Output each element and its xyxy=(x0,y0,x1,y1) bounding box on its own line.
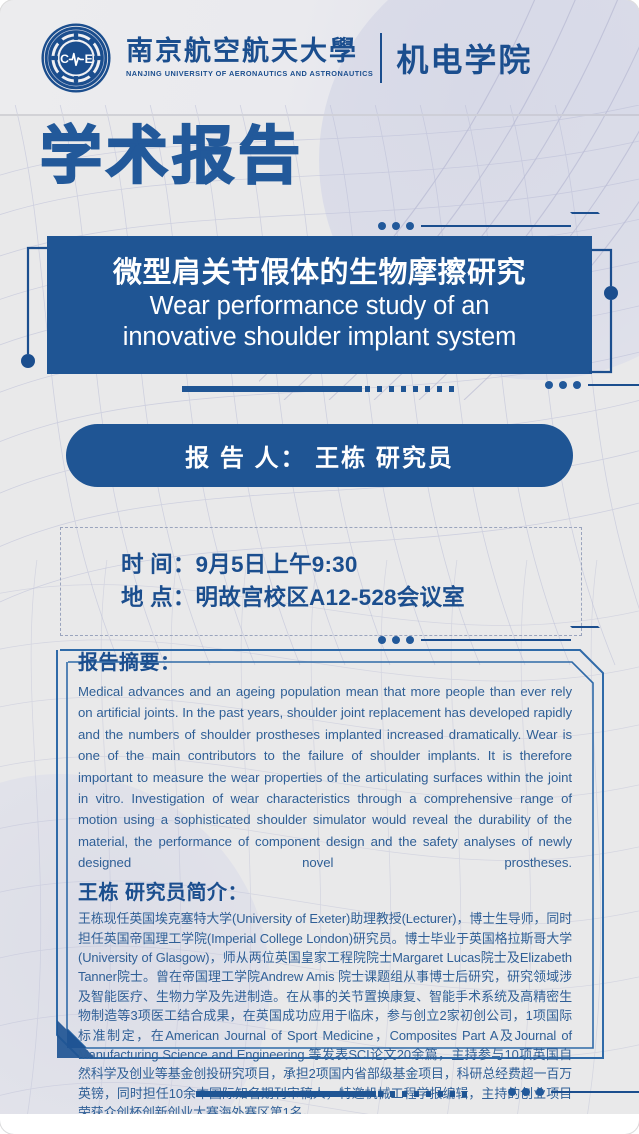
deco-line xyxy=(421,225,571,227)
speaker-text: 报 告 人： 王栋 研究员 xyxy=(185,438,454,473)
time-place-box: 时 间：9月5日上午9:30 地 点：明故宫校区A12-528会议室 xyxy=(60,527,582,636)
deco-dots-rule xyxy=(545,381,639,389)
deco-line xyxy=(551,1091,639,1093)
university-name-en: NANJING UNIVERSITY OF AERONAUTICS AND AS… xyxy=(126,69,373,78)
title-banner-content: 微型肩关节假体的生物摩擦研究 Wear performance study of… xyxy=(47,236,592,374)
time-line: 时 间：9月5日上午9:30 xyxy=(61,549,581,582)
title-en-line1: Wear performance study of an xyxy=(150,292,490,321)
abstract-content: 报告摘要： Medical advances and an ageing pop… xyxy=(78,648,572,1122)
bio-heading: 王栋 研究员简介： xyxy=(78,878,572,908)
place-line: 地 点：明故宫校区A12-528会议室 xyxy=(61,582,581,615)
bottom-margin xyxy=(0,1114,639,1134)
university-name-cn: 南京航空航天大學 xyxy=(126,37,368,66)
divider-rule-top xyxy=(0,383,639,395)
rule-solid-segment xyxy=(196,1091,376,1097)
abstract-body: Medical advances and an ageing populatio… xyxy=(78,681,572,873)
abstract-heading: 报告摘要： xyxy=(78,648,572,678)
three-dots-icon xyxy=(508,1088,544,1096)
poster-header: C E 南京航空航天大學 NANJING UNIVERSITY OF AERON… xyxy=(0,0,639,115)
svg-text:C: C xyxy=(60,52,69,66)
page-title: 学术报告 xyxy=(40,126,304,188)
deco-dots-bottom xyxy=(508,1086,639,1097)
rule-solid-segment xyxy=(182,386,362,392)
deco-line xyxy=(588,384,639,386)
speaker-pill: 报 告 人： 王栋 研究员 xyxy=(66,424,573,487)
rule-dashed-segment xyxy=(365,386,461,392)
seminar-poster: C E 南京航空航天大學 NANJING UNIVERSITY OF AERON… xyxy=(0,0,639,1134)
university-emblem-icon: C E xyxy=(40,22,112,94)
title-en-line2: innovative shoulder implant system xyxy=(123,323,516,352)
title-cn: 微型肩关节假体的生物摩擦研究 xyxy=(113,258,526,289)
three-dots-icon xyxy=(545,381,581,389)
university-wordmark: 南京航空航天大學 NANJING UNIVERSITY OF AERONAUTI… xyxy=(126,33,532,83)
school-name: 机电学院 xyxy=(396,35,532,81)
title-banner-area: 微型肩关节假体的生物摩擦研究 Wear performance study of… xyxy=(0,236,639,376)
bracket-right xyxy=(583,246,625,376)
rule-dashed-segment xyxy=(378,1091,474,1097)
three-dots-icon xyxy=(378,222,414,230)
wordmark-divider xyxy=(380,33,382,83)
svg-text:E: E xyxy=(85,52,93,66)
